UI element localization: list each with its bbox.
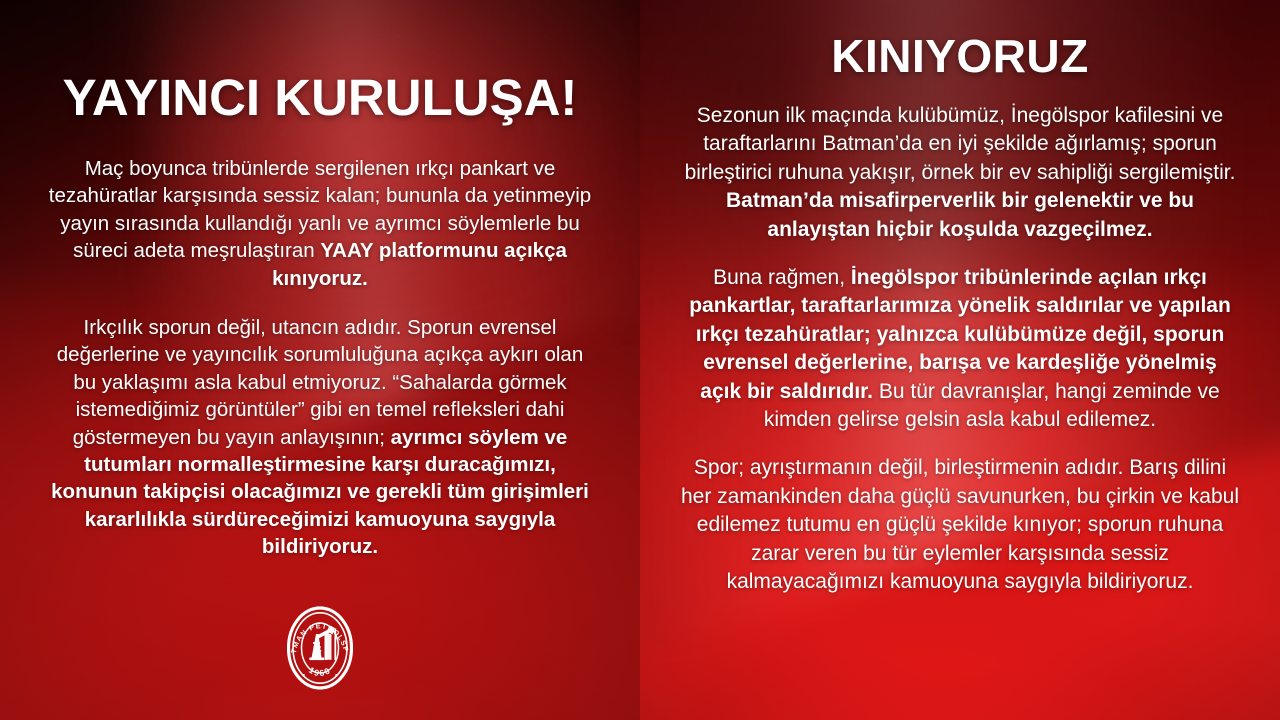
card-content-right: KINIYORUZ Sezonun ilk maçında kulübümüz,… — [640, 0, 1280, 720]
announcement-card-right: KINIYORUZ Sezonun ilk maçında kulübümüz,… — [640, 0, 1280, 720]
paragraph: Sezonun ilk maçında kulübümüz, İnegölspo… — [680, 102, 1240, 244]
announcement-sheet: YAYINCI KURULUŞA! Maç boyunca tribünlerd… — [0, 0, 1280, 720]
announcement-card-left: YAYINCI KURULUŞA! Maç boyunca tribünlerd… — [0, 0, 640, 720]
card-content-left: YAYINCI KURULUŞA! Maç boyunca tribünlerd… — [0, 0, 640, 720]
headline-left: YAYINCI KURULUŞA! — [63, 72, 578, 123]
svg-text:1960: 1960 — [307, 665, 333, 678]
paragraph: Irkçılık sporun değil, utancın adıdır. S… — [48, 314, 593, 561]
paragraph: Maç boyunca tribünlerde sergilenen ırkçı… — [48, 155, 593, 292]
text-run: Spor; ayrıştırmanın değil, birleştirmeni… — [681, 456, 1239, 593]
body-text-left: Maç boyunca tribünlerde sergilenen ırkçı… — [48, 155, 593, 561]
text-run: Sezonun ilk maçında kulübümüz, İnegölspo… — [685, 104, 1236, 184]
body-text-right: Sezonun ilk maçında kulübümüz, İnegölspo… — [680, 102, 1240, 597]
paragraph: Buna rağmen, İnegölspor tribünlerinde aç… — [680, 264, 1240, 434]
text-run: Buna rağmen, — [713, 266, 851, 289]
headline-right: KINIYORUZ — [831, 33, 1089, 79]
crest-year-text: 1960 — [307, 665, 333, 678]
club-crest-left: BATMAN PETROLSPOR 1960 — [287, 606, 353, 690]
emphasis-run: Batman’da misafirperverlik bir gelenekti… — [726, 189, 1194, 240]
paragraph: Spor; ayrıştırmanın değil, birleştirmeni… — [680, 454, 1240, 596]
